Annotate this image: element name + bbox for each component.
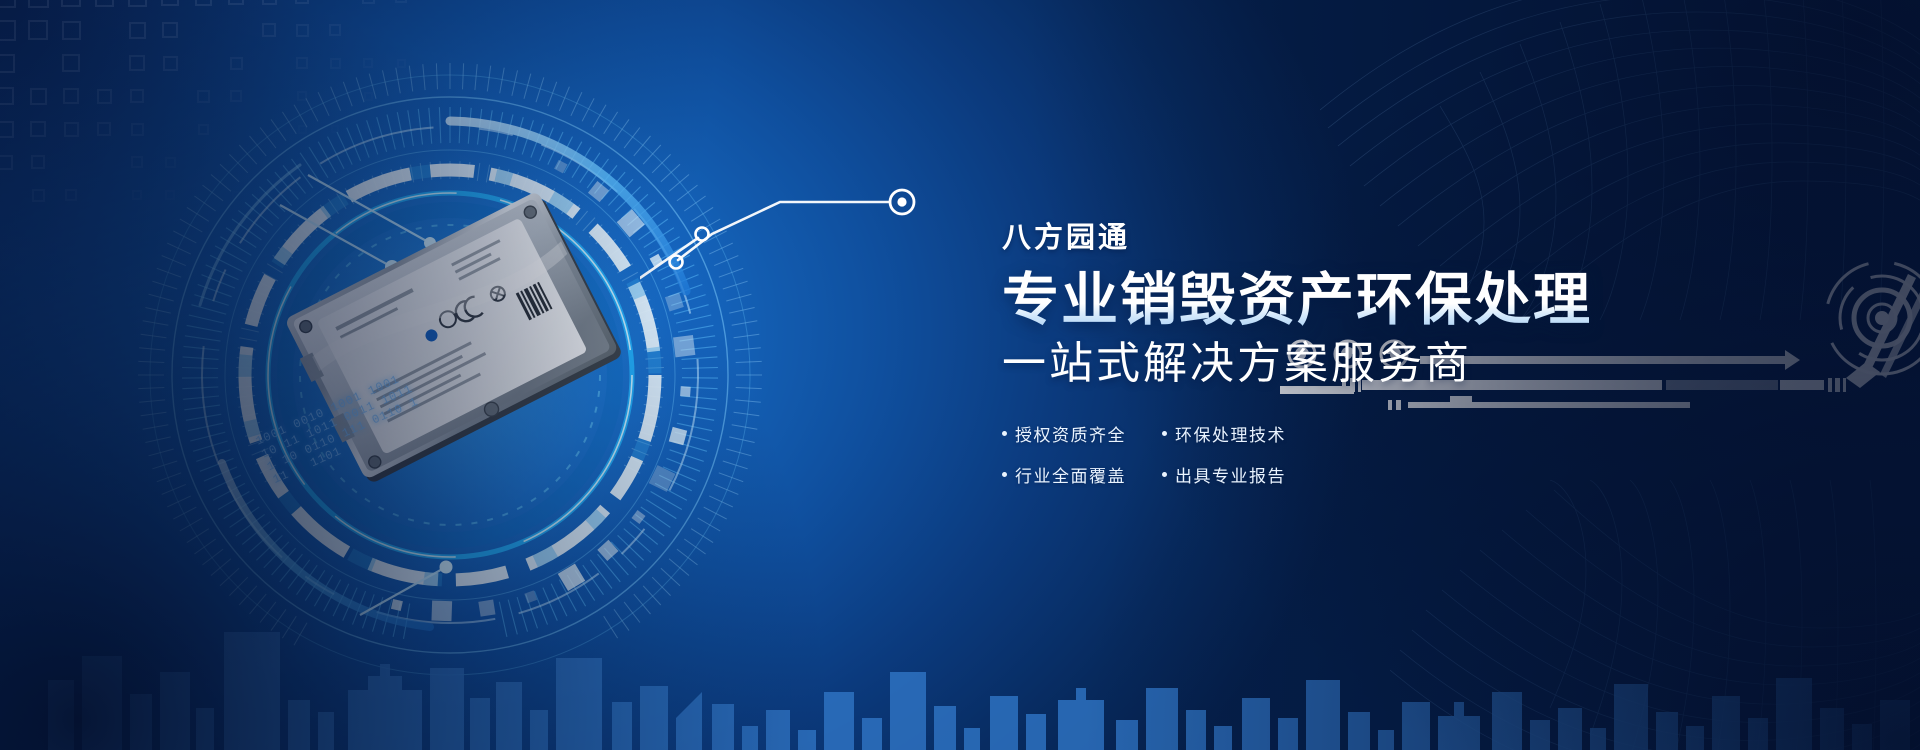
hard-disk-drive-icon xyxy=(273,174,638,502)
hero-copy: 八方园通 专业销毁资产环保处理 一站式解决方案服务商 授权资质齐全 环保处理技术… xyxy=(1002,224,1662,487)
tech-hud-ring xyxy=(130,55,770,695)
page-subtitle: 一站式解决方案服务商 xyxy=(1002,339,1662,388)
bullet-dot-icon xyxy=(1162,472,1167,477)
feature-label: 授权资质齐全 xyxy=(1015,421,1126,446)
bullet-dot-icon xyxy=(1002,472,1007,477)
hud-glow xyxy=(140,65,760,685)
list-item: 行业全面覆盖 xyxy=(1002,462,1150,487)
feature-label: 环保处理技术 xyxy=(1175,421,1286,446)
feature-list: 授权资质齐全 环保处理技术 行业全面覆盖 出具专业报告 xyxy=(1002,421,1662,487)
list-item: 环保处理技术 xyxy=(1162,421,1310,446)
bullet-dot-icon xyxy=(1002,431,1007,436)
page-title: 专业销毁资产环保处理 xyxy=(1002,270,1662,330)
binary-code-overlay: 1001 0010 1001 1001 10 11 1011 0011 1011… xyxy=(254,369,427,487)
digital-square-grid xyxy=(0,0,424,216)
mesh-wave-bottom-right xyxy=(1390,480,1920,750)
brand-name: 八方园通 xyxy=(1002,224,1662,253)
city-skyline xyxy=(0,560,1920,750)
hero-banner: 1001 0010 1001 1001 10 11 1011 0011 1011… xyxy=(0,0,1920,750)
feature-label: 出具专业报告 xyxy=(1175,462,1286,487)
circuit-connector-left xyxy=(640,160,970,300)
list-item: 出具专业报告 xyxy=(1162,462,1310,487)
corner-hud-node xyxy=(1790,236,1920,406)
list-item: 授权资质齐全 xyxy=(1002,421,1150,446)
hud-ring-svg xyxy=(130,55,770,695)
feature-label: 行业全面覆盖 xyxy=(1015,462,1126,487)
bullet-dot-icon xyxy=(1162,431,1167,436)
